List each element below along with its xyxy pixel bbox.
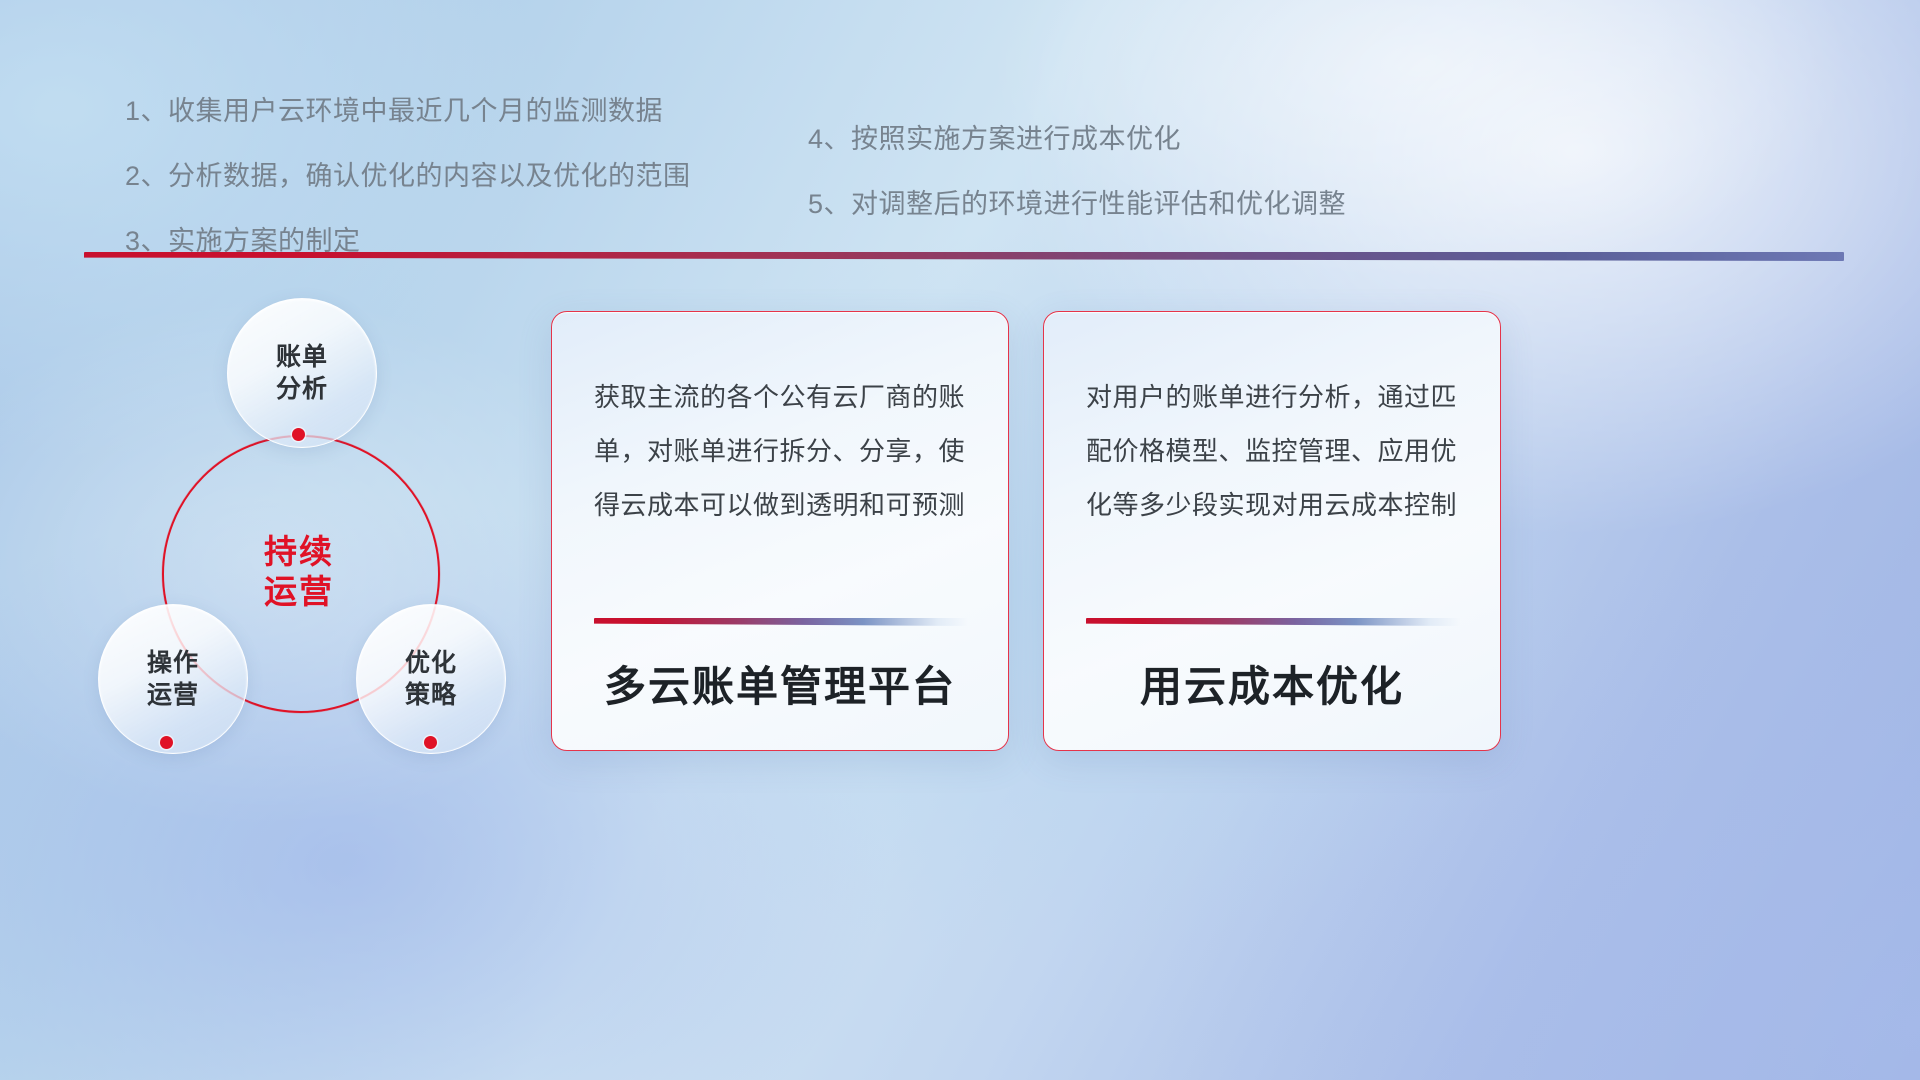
venn-connector-dot-right	[424, 736, 437, 749]
card-divider	[1086, 618, 1460, 626]
bullet-item: 5、对调整后的环境进行性能评估和优化调整	[808, 191, 1346, 218]
card-body-text: 获取主流的各个公有云厂商的账单，对账单进行拆分、分享，使得云成本可以做到透明和可…	[594, 370, 966, 532]
venn-node-label: 优化 策略	[405, 647, 457, 711]
bullet-item: 4、按照实施方案进行成本优化	[808, 126, 1346, 153]
venn-node-label: 账单 分析	[276, 341, 328, 405]
venn-connector-dot-top	[292, 428, 305, 441]
bullet-item: 2、分析数据，确认优化的内容以及优化的范围	[125, 163, 691, 190]
bullet-item: 1、收集用户云环境中最近几个月的监测数据	[125, 98, 691, 125]
venn-connector-dot-left	[160, 736, 173, 749]
venn-node-optimization-strategy[interactable]: 优化 策略	[356, 604, 506, 754]
bullet-list-right: 4、按照实施方案进行成本优化 5、对调整后的环境进行性能评估和优化调整	[808, 126, 1346, 256]
feature-card-cost-optimization[interactable]: 对用户的账单进行分析，通过匹配价格模型、监控管理、应用优化等多少段实现对用云成本…	[1043, 311, 1501, 751]
venn-node-label: 操作 运营	[147, 647, 199, 711]
card-title: 用云成本优化	[1044, 653, 1500, 714]
bullet-list-left: 1、收集用户云环境中最近几个月的监测数据 2、分析数据，确认优化的内容以及优化的…	[125, 98, 691, 293]
continuous-operation-label: 持续 运营	[264, 532, 334, 613]
card-body-text: 对用户的账单进行分析，通过匹配价格模型、监控管理、应用优化等多少段实现对用云成本…	[1086, 370, 1458, 532]
venn-node-operation[interactable]: 操作 运营	[98, 604, 248, 754]
venn-node-bill-analysis[interactable]: 账单 分析	[227, 298, 377, 448]
card-title: 多云账单管理平台	[552, 653, 1008, 714]
bullet-item: 3、实施方案的制定	[125, 228, 691, 255]
feature-card-multicloud-billing[interactable]: 获取主流的各个公有云厂商的账单，对账单进行拆分、分享，使得云成本可以做到透明和可…	[551, 311, 1009, 751]
card-divider	[594, 618, 968, 626]
cycle-diagram: 持续 运营 账单 分析 操作 运营 优化 策略	[80, 290, 550, 780]
